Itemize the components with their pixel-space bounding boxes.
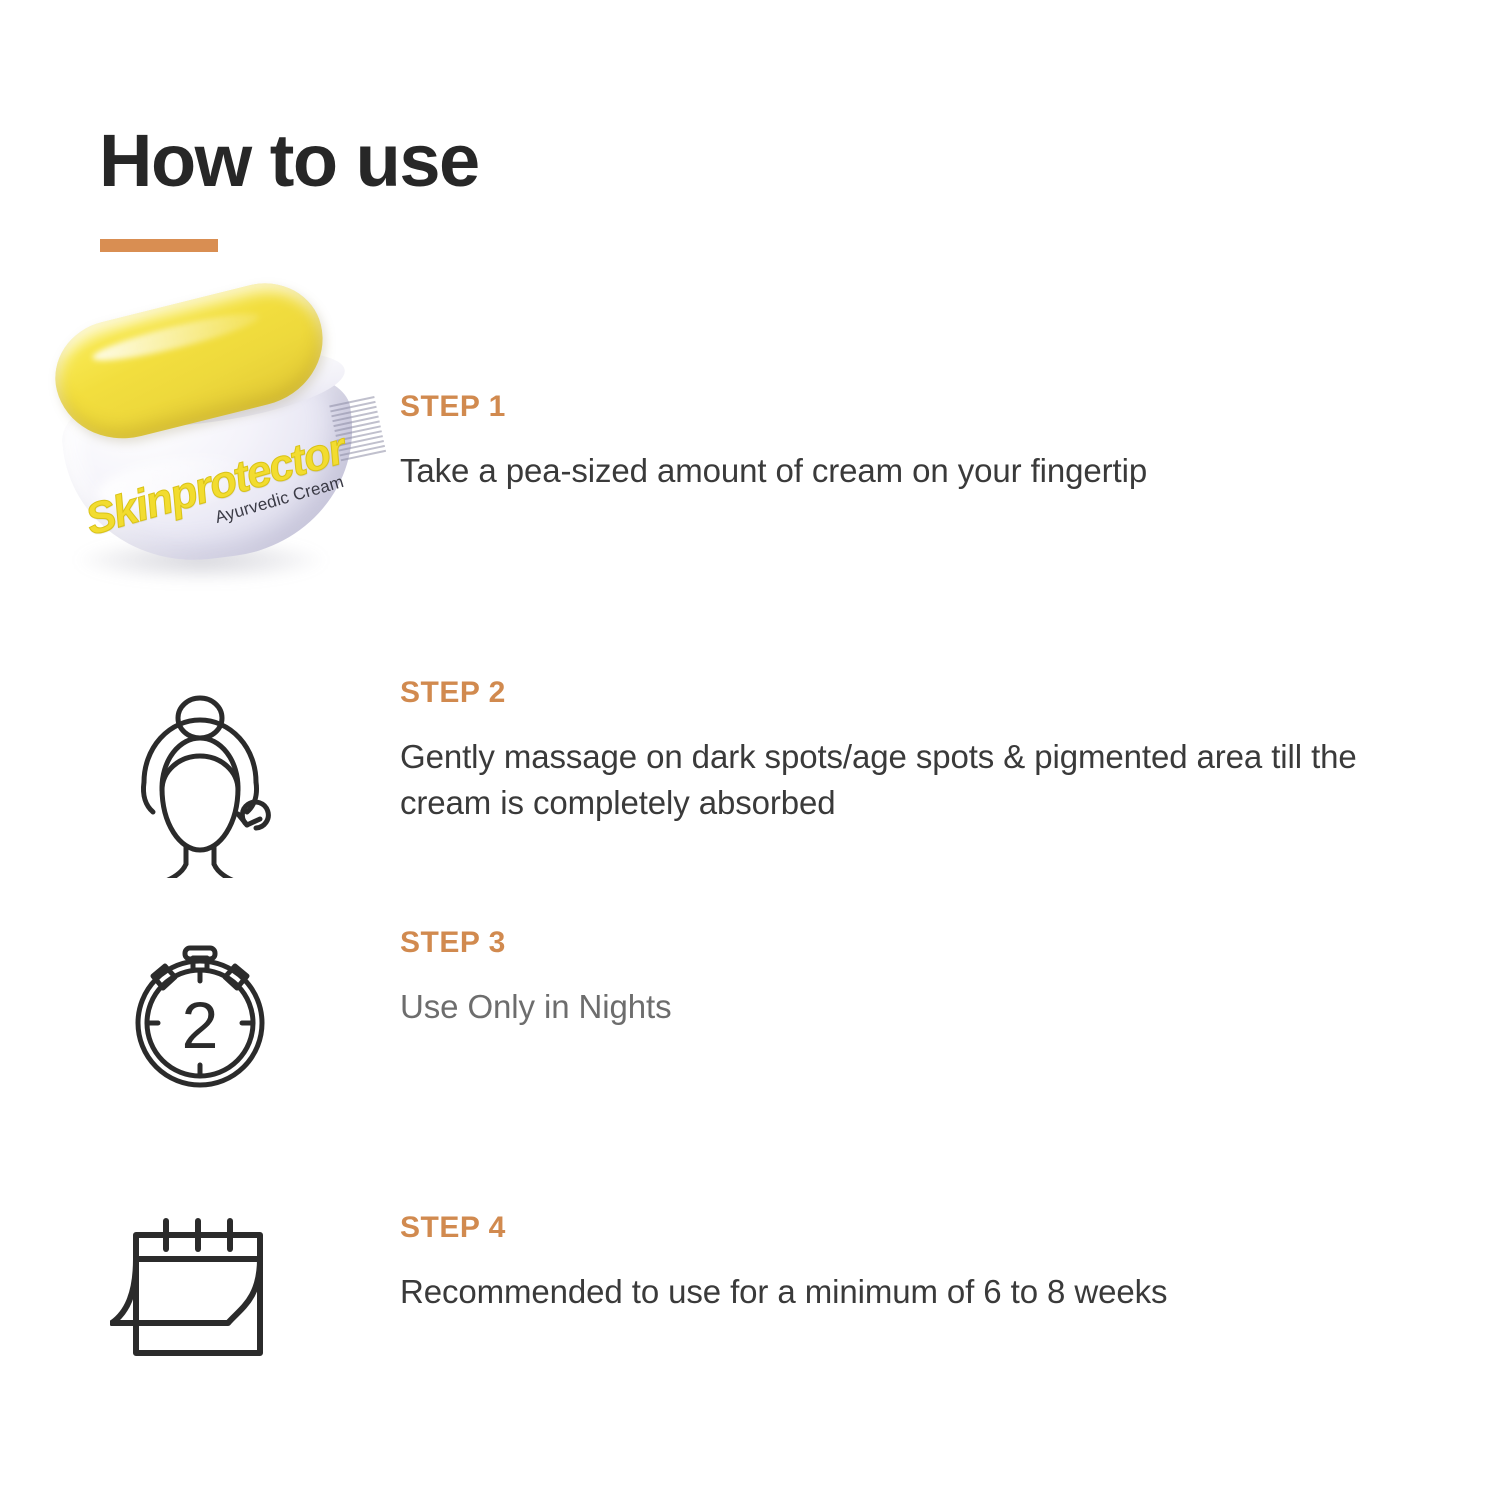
step-row-3: 2 STEP 3 Use Only in Nights — [0, 928, 1420, 1098]
page-title: How to use — [99, 122, 479, 200]
step-3-visual: 2 — [0, 928, 400, 1098]
jar-brand-label: Skinprotector — [80, 424, 350, 546]
step-4-body: Recommended to use for a minimum of 6 to… — [400, 1269, 1410, 1315]
step-2-body: Gently massage on dark spots/age spots &… — [400, 734, 1410, 825]
jar-descriptor-label: Ayurvedic Cream — [213, 472, 346, 528]
step-1-text: STEP 1 Take a pea-sized amount of cream … — [400, 392, 1420, 494]
calendar-icon — [110, 1213, 290, 1373]
product-jar-image: Skinprotector Ayurvedic Cream — [38, 292, 378, 622]
how-to-use-infographic: How to use Skinprotector Ayurvedic Cream… — [0, 0, 1500, 1500]
jar-ingredient-microtext — [329, 396, 389, 474]
stopwatch-value: 2 — [182, 988, 219, 1062]
step-4-text: STEP 4 Recommended to use for a minimum … — [400, 1213, 1420, 1315]
step-1-label: STEP 1 — [400, 392, 1420, 422]
step-2-text: STEP 2 Gently massage on dark spots/age … — [400, 678, 1420, 825]
face-massage-icon — [120, 678, 280, 878]
jar-body — [56, 351, 367, 575]
step-3-text: STEP 3 Use Only in Nights — [400, 928, 1420, 1030]
step-row-4: STEP 4 Recommended to use for a minimum … — [0, 1213, 1420, 1373]
step-row-2: STEP 2 Gently massage on dark spots/age … — [0, 678, 1420, 878]
jar-lid — [44, 271, 337, 453]
jar-drop-shadow — [76, 538, 326, 582]
title-underline-rule — [100, 239, 218, 252]
jar-neck — [71, 337, 350, 440]
step-2-label: STEP 2 — [400, 678, 1420, 708]
step-1-body: Take a pea-sized amount of cream on your… — [400, 448, 1410, 494]
step-row-1: Skinprotector Ayurvedic Cream STEP 1 Tak… — [0, 392, 1420, 494]
step-3-label: STEP 3 — [400, 928, 1420, 958]
stopwatch-icon: 2 — [115, 928, 285, 1098]
step-3-body: Use Only in Nights — [400, 984, 1410, 1030]
jar-lid-highlight — [90, 306, 262, 369]
step-4-visual — [0, 1213, 400, 1373]
step-4-label: STEP 4 — [400, 1213, 1420, 1243]
step-2-visual — [0, 678, 400, 878]
jar-gloss-highlight — [93, 449, 248, 518]
